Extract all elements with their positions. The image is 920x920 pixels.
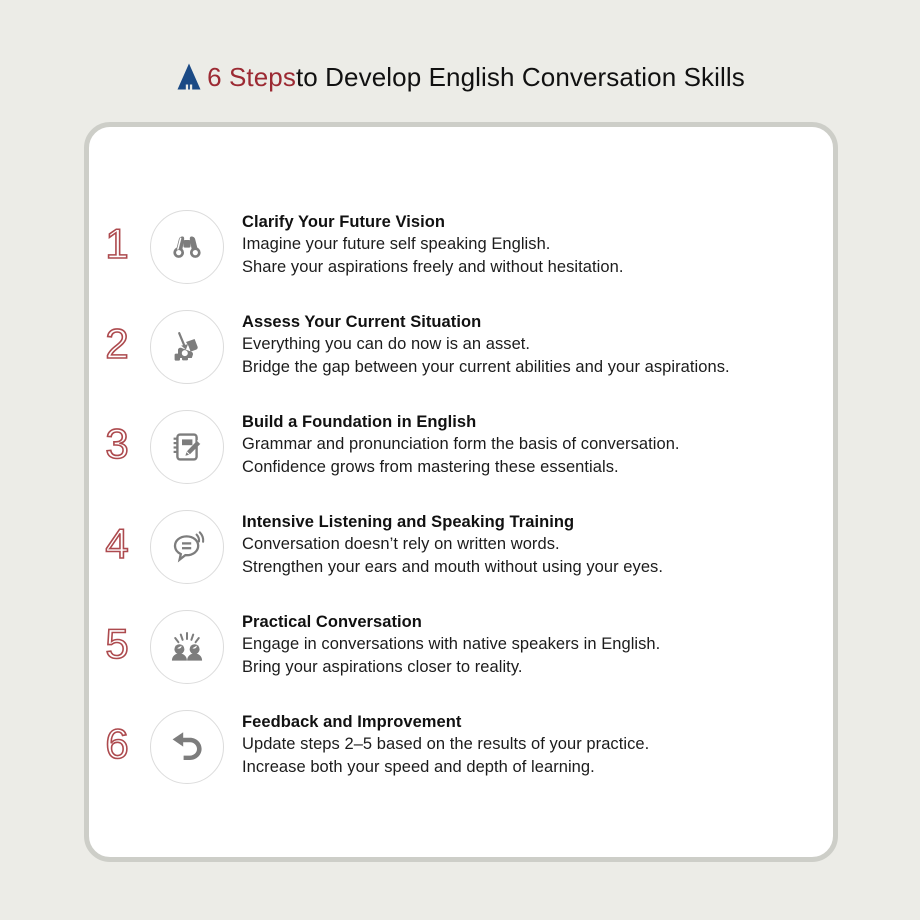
step-heading: Feedback and Improvement — [242, 711, 843, 733]
step-number: 4 — [89, 505, 145, 565]
step-icon-wrap — [145, 705, 229, 784]
step-text: Clarify Your Future Vision Imagine your … — [229, 205, 843, 278]
speech-bubble-sound-waves-icon — [166, 526, 208, 568]
step-text: Assess Your Current Situation Everything… — [229, 305, 843, 378]
step-number: 2 — [89, 305, 145, 365]
icon-circle — [150, 310, 224, 384]
icon-circle — [150, 210, 224, 284]
step-icon-wrap — [145, 305, 229, 384]
step-line: Share your aspirations freely and withou… — [242, 256, 843, 279]
step-text: Intensive Listening and Speaking Trainin… — [229, 505, 843, 578]
step-heading: Clarify Your Future Vision — [242, 211, 843, 233]
step-line: Conversation doesn’t rely on written wor… — [242, 533, 843, 556]
notebook-and-pen-icon — [166, 426, 208, 468]
step-text: Practical Conversation Engage in convers… — [229, 605, 843, 678]
step-line: Engage in conversations with native spea… — [242, 633, 843, 656]
step-number: 3 — [89, 405, 145, 465]
step-line: Confidence grows from mastering these es… — [242, 456, 843, 479]
step-line: Bridge the gap between your current abil… — [242, 356, 843, 379]
undo-loop-arrow-icon — [166, 726, 208, 768]
step-line: Update steps 2–5 based on the results of… — [242, 733, 843, 756]
step-line: Increase both your speed and depth of le… — [242, 756, 843, 779]
list-item[interactable]: 3 — [89, 405, 843, 505]
step-text: Feedback and Improvement Update steps 2–… — [229, 705, 843, 778]
step-line: Strengthen your ears and mouth without u… — [242, 556, 843, 579]
seat-with-down-arrow-icon — [166, 326, 208, 368]
infographic-page: 6 Steps to Develop English Conversation … — [0, 0, 920, 920]
title-rest: to Develop English Conversation Skills — [296, 62, 745, 93]
step-line: Bring your aspirations closer to reality… — [242, 656, 843, 679]
step-text: Build a Foundation in English Grammar an… — [229, 405, 843, 478]
mountain-peak-icon — [175, 62, 203, 92]
list-item[interactable]: 6 Feedback and Improvement Update steps … — [89, 705, 843, 805]
step-heading: Assess Your Current Situation — [242, 311, 843, 333]
step-number: 5 — [89, 605, 145, 665]
step-icon-wrap — [145, 505, 229, 584]
step-icon-wrap — [145, 205, 229, 284]
two-people-talking-icon — [166, 626, 208, 668]
step-number: 6 — [89, 705, 145, 765]
step-heading: Practical Conversation — [242, 611, 843, 633]
step-icon-wrap — [145, 605, 229, 684]
step-heading: Intensive Listening and Speaking Trainin… — [242, 511, 843, 533]
step-line: Everything you can do now is an asset. — [242, 333, 843, 356]
icon-circle — [150, 610, 224, 684]
list-item[interactable]: 5 — [89, 605, 843, 705]
title-accent: 6 Steps — [207, 62, 296, 93]
page-title: 6 Steps to Develop English Conversation … — [0, 62, 920, 93]
step-line: Grammar and pronunciation form the basis… — [242, 433, 843, 456]
list-item[interactable]: 1 — [89, 205, 843, 305]
binoculars-icon — [166, 226, 208, 268]
step-line: Imagine your future self speaking Englis… — [242, 233, 843, 256]
icon-circle — [150, 710, 224, 784]
icon-circle — [150, 510, 224, 584]
steps-card: 1 — [84, 122, 838, 862]
list-item[interactable]: 4 — [89, 505, 843, 605]
step-number: 1 — [89, 205, 145, 265]
list-item[interactable]: 2 — [89, 305, 843, 405]
icon-circle — [150, 410, 224, 484]
step-heading: Build a Foundation in English — [242, 411, 843, 433]
step-icon-wrap — [145, 405, 229, 484]
